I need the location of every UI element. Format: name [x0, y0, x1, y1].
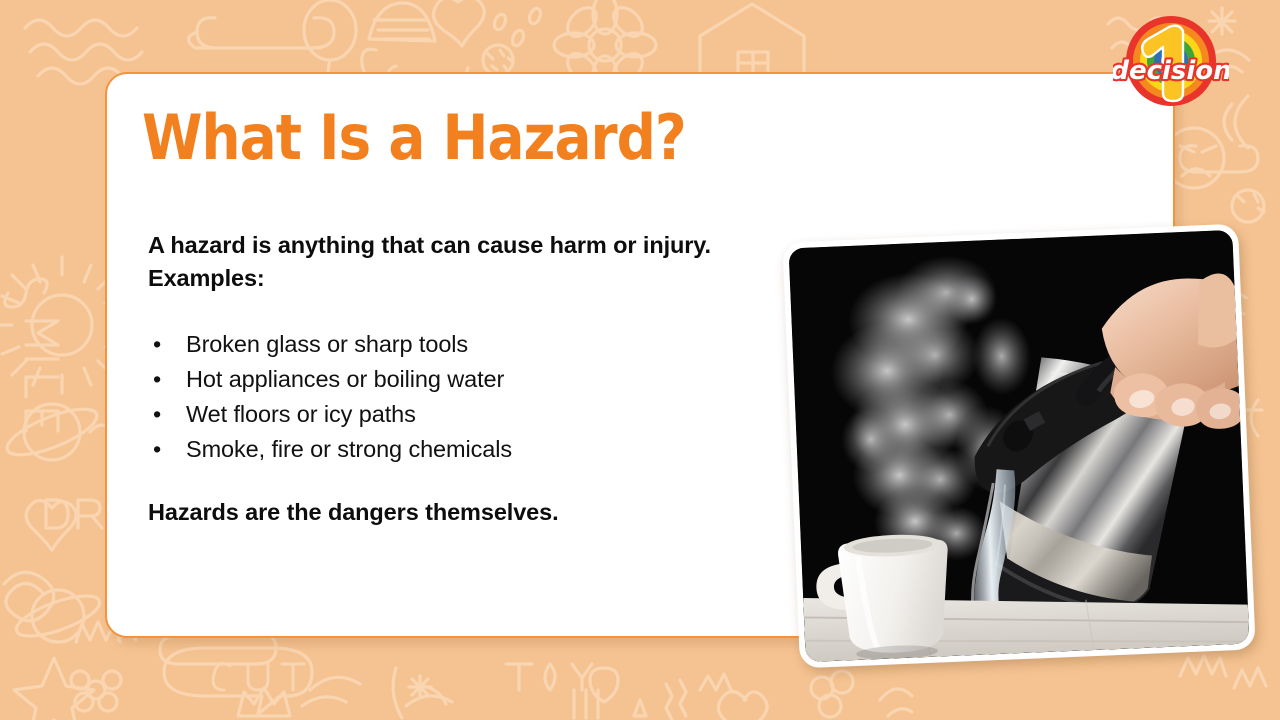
bullet-icon: •: [153, 327, 161, 362]
list-item: • Broken glass or sharp tools: [148, 327, 818, 362]
list-item-label: Smoke, fire or strong chemicals: [186, 436, 512, 462]
logo-wordmark: decision: [1113, 56, 1229, 86]
kettle-photo: [789, 230, 1250, 662]
closing-statement: Hazards are the dangers themselves.: [148, 499, 818, 526]
kettle-photo-frame: [782, 224, 1255, 669]
svg-text:decision: decision: [1113, 56, 1229, 86]
bullet-icon: •: [153, 432, 161, 467]
page-title: What Is a Hazard?: [142, 102, 686, 175]
slide-body: A hazard is anything that can cause harm…: [148, 229, 818, 526]
bullet-icon: •: [153, 362, 161, 397]
hazard-examples-list: • Broken glass or sharp tools • Hot appl…: [148, 327, 818, 468]
list-item-label: Wet floors or icy paths: [186, 401, 416, 427]
1decision-logo[interactable]: decision: [1113, 13, 1229, 113]
list-item: • Wet floors or icy paths: [148, 397, 818, 432]
list-item-label: Hot appliances or boiling water: [186, 366, 504, 392]
intro-paragraph: A hazard is anything that can cause harm…: [148, 229, 818, 296]
bullet-icon: •: [153, 397, 161, 432]
list-item-label: Broken glass or sharp tools: [186, 331, 468, 357]
list-item: • Hot appliances or boiling water: [148, 362, 818, 397]
list-item: • Smoke, fire or strong chemicals: [148, 432, 818, 467]
